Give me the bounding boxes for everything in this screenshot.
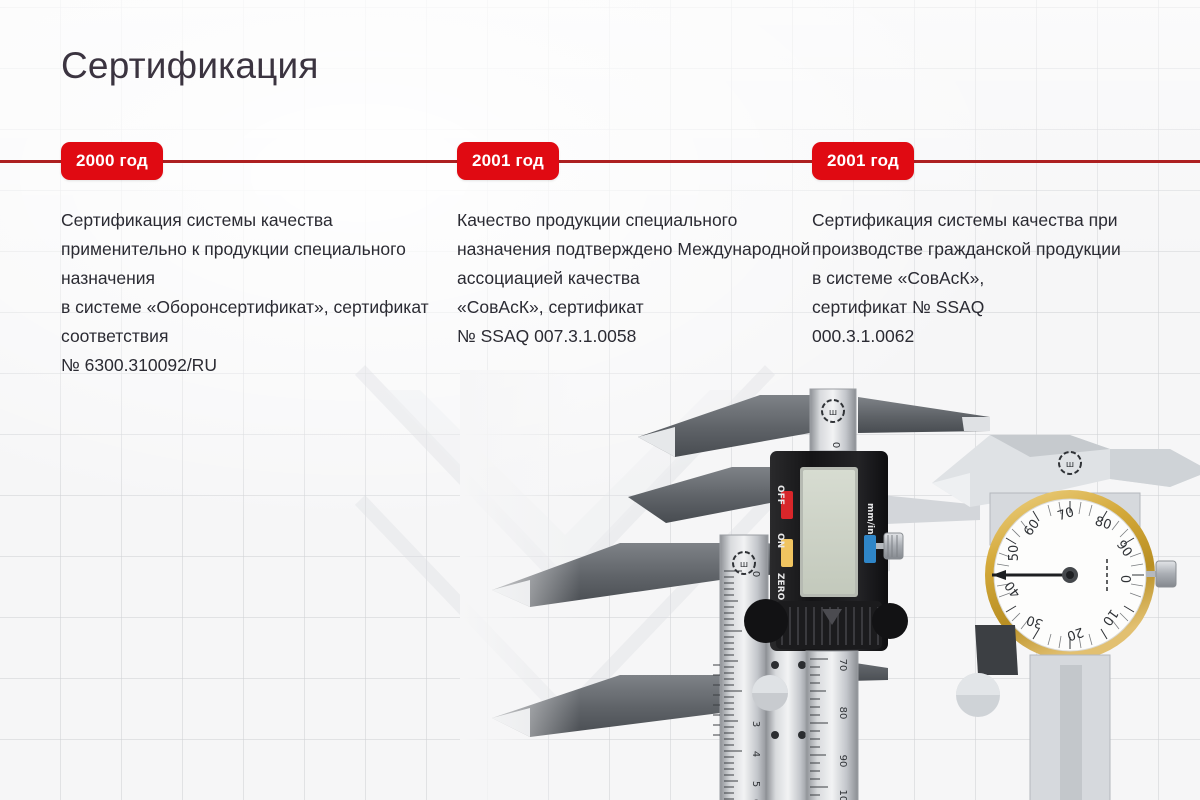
certification-text-2: Качество продукции специального назначен…: [457, 206, 817, 351]
page-title: Сертификация: [61, 45, 319, 87]
timeline-badge-2001-a[interactable]: 2001 год: [457, 142, 559, 180]
timeline-badge-2000[interactable]: 2000 год: [61, 142, 163, 180]
grid-background: [0, 0, 1200, 800]
certification-text-3: Сертификация системы качества при произв…: [812, 206, 1162, 351]
timeline-badge-2001-b[interactable]: 2001 год: [812, 142, 914, 180]
certification-text-1: Сертификация системы качества применител…: [61, 206, 436, 380]
slide-canvas: Сертификация 2000 год 2001 год 2001 год …: [0, 0, 1200, 800]
timeline-rule: [0, 160, 1200, 163]
